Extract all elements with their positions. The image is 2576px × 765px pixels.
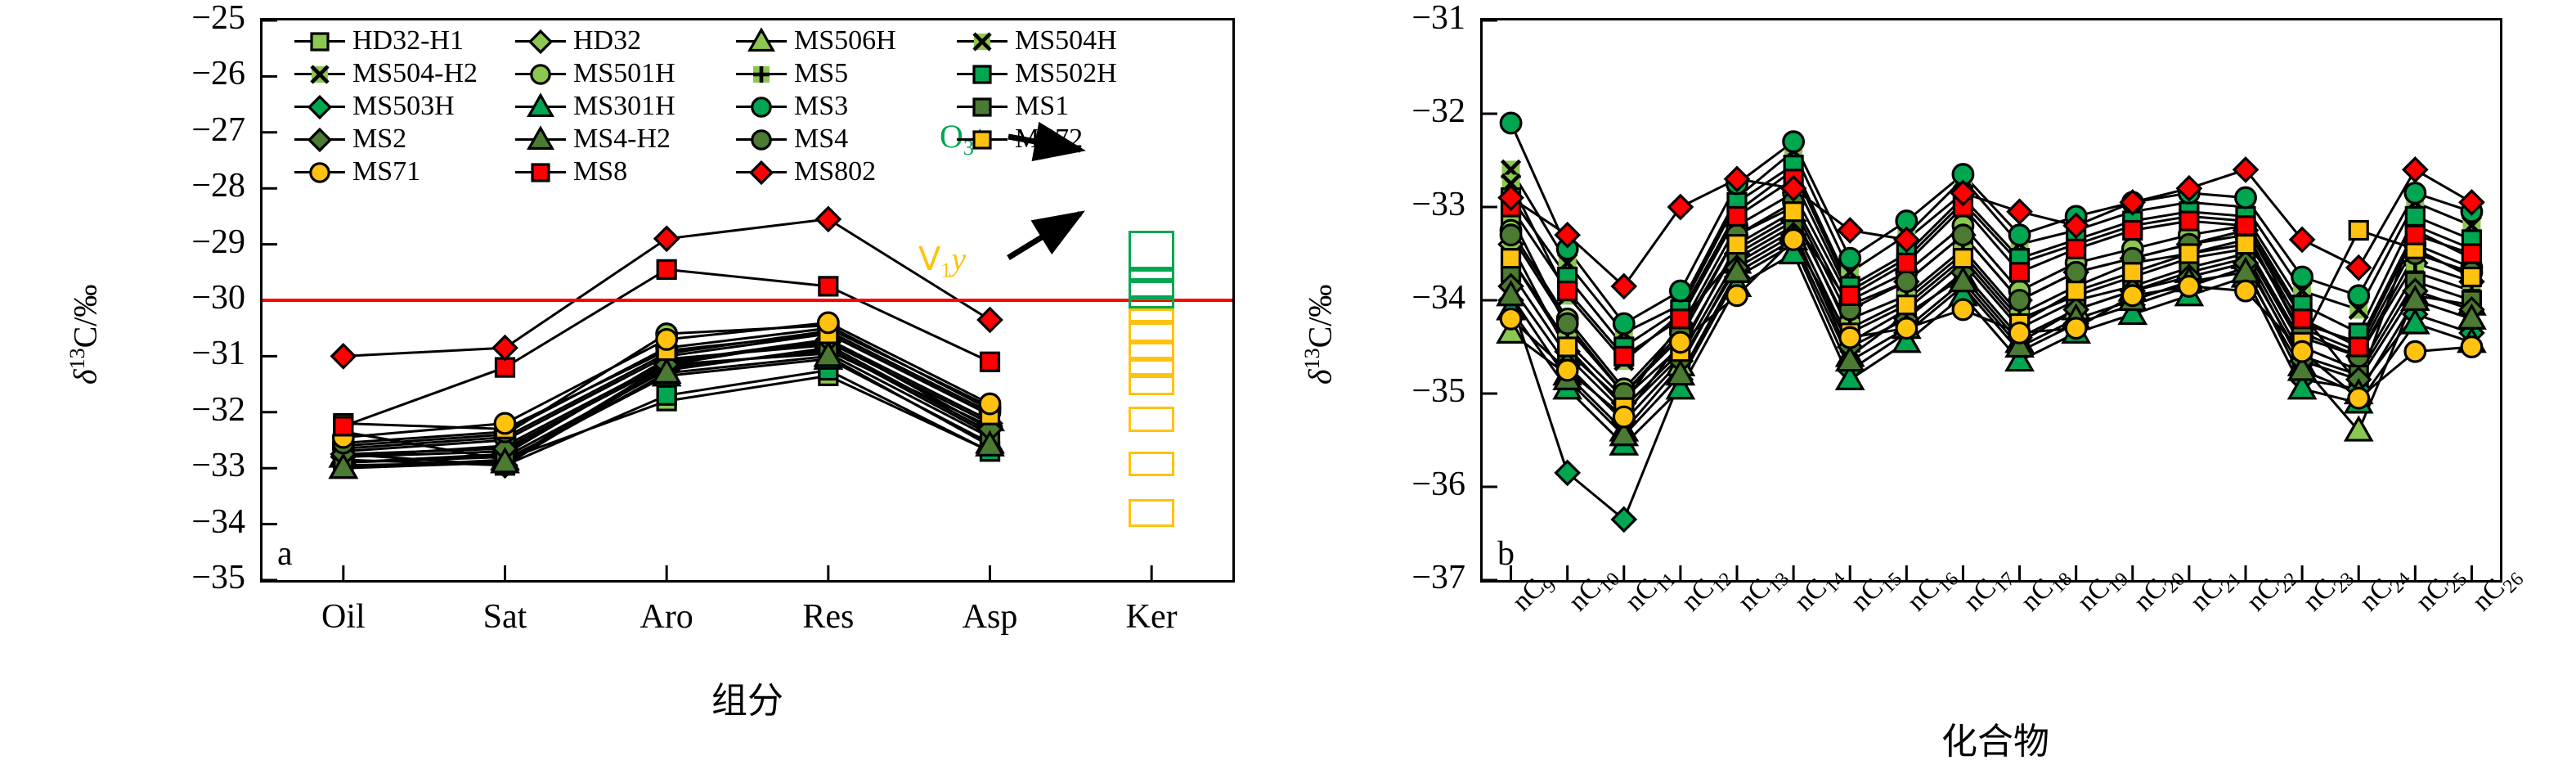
legend-marker-diamond-icon: [294, 106, 345, 108]
y-tick-label: −30: [139, 278, 245, 317]
legend-marker-circle-icon: [515, 73, 566, 75]
x-tick-label-aro: Aro: [640, 597, 693, 637]
kerogen-box: [1129, 359, 1174, 376]
legend-label: HD32-H1: [352, 25, 464, 56]
data-point: [2292, 267, 2313, 287]
panel-a-y-axis-label: δ13C/‰: [65, 285, 104, 385]
legend-label: MS503H: [352, 91, 455, 122]
data-point: [2236, 281, 2256, 301]
data-point: [1784, 132, 1804, 152]
legend-item-hd32-h1[interactable]: HD32-H1: [294, 25, 515, 57]
panel-b-y-ticks: −31−32−33−34−35−36−37: [1367, 18, 1465, 583]
data-point: [657, 386, 675, 404]
legend-label: MS1: [1015, 91, 1069, 122]
y-tick-label: −33: [139, 446, 245, 485]
data-point: [332, 344, 355, 367]
legend-item-ms4-h2[interactable]: MS4-H2: [515, 123, 736, 155]
data-point: [2011, 263, 2029, 281]
data-point: [2236, 187, 2256, 208]
data-point: [2009, 225, 2030, 245]
data-point: [2349, 222, 2367, 240]
data-point: [1501, 225, 1521, 245]
data-point: [1501, 113, 1521, 133]
legend-marker-circle-icon: [736, 106, 787, 108]
data-point: [2124, 263, 2142, 281]
legend-item-ms504-h2[interactable]: MS504-H2: [294, 57, 515, 90]
legend-marker-cross-icon: [957, 40, 1008, 43]
data-point: [819, 277, 837, 295]
data-point: [1896, 272, 1917, 292]
data-point: [2405, 341, 2426, 362]
legend-label: MS3: [794, 91, 848, 122]
legend-item-ms501h[interactable]: MS501H: [515, 57, 736, 90]
data-point: [817, 208, 840, 231]
y-tick-label: −28: [139, 166, 245, 205]
legend-item-ms802[interactable]: MS802: [736, 155, 957, 188]
data-point: [1557, 313, 1577, 334]
panel-b-x-axis-label: 化合物: [1941, 712, 2049, 764]
data-point: [978, 308, 1001, 331]
kerogen-box: [1129, 407, 1174, 432]
data-point: [2293, 310, 2311, 328]
data-point: [1840, 248, 1860, 268]
data-point: [2179, 277, 2200, 297]
data-point: [1613, 407, 1634, 427]
legend-marker-square-icon: [957, 73, 1008, 75]
data-point: [2462, 268, 2480, 286]
kerogen-box: [1129, 322, 1174, 342]
legend-label: MS802: [794, 156, 876, 187]
data-point: [1557, 360, 1577, 380]
legend-item-ms4[interactable]: MS4: [736, 123, 957, 155]
legend-item-hd32[interactable]: HD32: [515, 25, 736, 57]
legend-marker-plus-icon: [736, 73, 787, 75]
data-point: [2122, 286, 2143, 306]
x-tick-label-asp: Asp: [963, 597, 1018, 637]
data-point: [657, 260, 675, 278]
data-point: [2349, 338, 2367, 356]
y-tick-label: −29: [139, 223, 245, 262]
data-point: [1669, 196, 1692, 218]
x-tick-label-sat: Sat: [483, 597, 527, 637]
data-point: [1671, 332, 1691, 353]
legend-label: MS504-H2: [352, 58, 478, 89]
panel-b-letter: b: [1497, 534, 1515, 574]
data-point: [2237, 236, 2255, 254]
legend-marker-square-icon: [957, 138, 1008, 141]
legend-item-ms71[interactable]: MS71: [294, 155, 515, 188]
panel-b: δ13C/‰ −31−32−33−34−35−36−37 b nC9nC10nC…: [1276, 0, 2576, 765]
data-point: [1953, 225, 1973, 245]
data-point: [657, 330, 677, 350]
kerogen-box: [1129, 499, 1174, 527]
y-tick-label: −32: [139, 390, 245, 430]
data-point: [1501, 308, 1521, 329]
data-point: [1896, 318, 1917, 339]
data-point: [980, 394, 1000, 414]
legend-item-ms2[interactable]: MS2: [294, 123, 515, 155]
legend-marker-triangle-icon: [515, 106, 566, 108]
legend-label: MS506H: [794, 25, 896, 56]
kerogen-box: [1129, 342, 1174, 359]
legend-marker-diamond-icon: [294, 138, 345, 141]
data-point: [1502, 250, 1520, 268]
data-point: [1672, 310, 1690, 328]
y-tick-label: −37: [1359, 558, 1465, 597]
legend-item-ms503h[interactable]: MS503H: [294, 90, 515, 123]
kerogen-box: [1129, 452, 1174, 477]
legend-label: MS502H: [1015, 58, 1117, 89]
data-point: [2406, 226, 2424, 244]
x-tick-label-ker: Ker: [1126, 597, 1178, 637]
data-point: [1784, 230, 1804, 250]
legend-item-ms502h[interactable]: MS502H: [957, 57, 1178, 90]
x-tick-label-oil: Oil: [321, 597, 366, 637]
data-point: [2009, 323, 2030, 344]
data-point: [1838, 218, 1861, 241]
legend-marker-square-icon: [957, 106, 1008, 108]
kerogen-box: [1129, 281, 1174, 298]
legend-item-ms504h[interactable]: MS504H: [957, 25, 1178, 57]
legend-item-ms1[interactable]: MS1: [957, 90, 1178, 123]
annotation-c1y: Ⅴ1y: [918, 240, 966, 283]
data-point: [1840, 327, 1860, 348]
x-tick-label-res: Res: [802, 597, 854, 637]
data-point: [819, 313, 839, 333]
data-point: [1728, 236, 1746, 254]
legend-label: MS4-H2: [573, 124, 671, 155]
y-tick-label: −35: [1359, 371, 1465, 411]
y-tick-label: −35: [139, 558, 245, 597]
data-point: [2349, 286, 2369, 306]
legend-label: MS504H: [1015, 25, 1117, 56]
y-tick-label: −34: [1359, 278, 1465, 317]
panel-b-series-layer: [1483, 20, 2500, 580]
y-tick-label: −25: [139, 0, 245, 38]
panel-a-letter: a: [277, 534, 293, 574]
legend-item-ms5[interactable]: MS5: [736, 57, 957, 90]
legend-marker-triangle-icon: [515, 138, 566, 141]
data-point: [1615, 347, 1633, 365]
kerogen-box: [1129, 376, 1174, 395]
data-point: [2009, 290, 2030, 311]
panel-b-y-axis-label: δ13C/‰: [1300, 285, 1339, 385]
legend-marker-square-icon: [294, 40, 345, 43]
legend-marker-circle-icon: [736, 138, 787, 141]
data-point: [2066, 318, 2086, 339]
legend-marker-diamond-icon: [736, 171, 787, 173]
data-point: [2403, 158, 2426, 181]
data-point: [655, 227, 678, 250]
data-point: [2406, 207, 2424, 225]
data-point: [2124, 222, 2142, 240]
legend-label: MS2: [352, 124, 406, 155]
data-point: [1954, 250, 1972, 268]
y-tick-label: −33: [1359, 185, 1465, 224]
data-point: [2067, 240, 2085, 258]
data-point: [2008, 200, 2031, 223]
legend-marker-square-icon: [515, 171, 566, 173]
y-tick-label: −27: [139, 110, 245, 150]
legend-marker-cross-icon: [294, 73, 345, 75]
data-point: [2292, 341, 2313, 362]
data-point: [495, 413, 515, 434]
data-point: [2066, 262, 2086, 282]
data-point: [2237, 217, 2255, 235]
data-point: [1613, 313, 1634, 334]
legend-label: MS4: [794, 124, 848, 155]
reference-line-minus30: [263, 299, 1232, 302]
kerogen-box: [1129, 269, 1174, 281]
legend-label: MS8: [573, 156, 627, 187]
data-point: [2349, 388, 2369, 408]
data-point: [981, 353, 999, 371]
panel-a-y-ticks: −25−26−27−28−29−30−31−32−33−34−35: [147, 18, 245, 583]
legend-label: MS71: [352, 156, 420, 187]
y-tick-label: −36: [1359, 465, 1465, 504]
legend-marker-diamond-icon: [515, 40, 566, 43]
legend-item-ms301h[interactable]: MS301H: [515, 90, 736, 123]
kerogen-box: [1129, 298, 1174, 309]
legend-item-ms3[interactable]: MS3: [736, 90, 957, 123]
kerogen-box: [1129, 231, 1174, 270]
data-point: [1559, 282, 1577, 300]
y-tick-label: −31: [139, 334, 245, 373]
legend-label: MS72: [1015, 124, 1083, 155]
data-point: [1559, 338, 1577, 356]
y-tick-label: −31: [1359, 0, 1465, 38]
data-point: [2180, 212, 2198, 230]
legend-label: MS301H: [573, 91, 675, 122]
legend-marker-triangle-icon: [736, 40, 787, 43]
legend-label: MS5: [794, 58, 848, 89]
data-point: [1671, 281, 1691, 301]
data-point: [1841, 286, 1859, 304]
panel-a-legend: HD32-H1HD32MS506HMS504HMS504-H2MS501HMS5…: [294, 25, 1178, 188]
panel-a: δ13C/‰ −25−26−27−28−29−30−31−32−33−34−35…: [0, 0, 1276, 765]
legend-label: HD32: [573, 25, 641, 56]
y-tick-label: −32: [1359, 92, 1465, 131]
data-point: [2067, 282, 2085, 300]
data-point: [2462, 337, 2482, 358]
data-point: [1727, 286, 1748, 306]
y-tick-label: −26: [139, 54, 245, 93]
kerogen-box: [1129, 308, 1174, 322]
data-point: [1784, 203, 1802, 221]
legend-item-ms8[interactable]: MS8: [515, 155, 736, 188]
legend-item-ms72[interactable]: MS72: [957, 123, 1178, 155]
legend-item-ms506h[interactable]: MS506H: [736, 25, 957, 57]
data-point: [493, 336, 516, 359]
data-point: [2405, 183, 2426, 204]
data-point: [2180, 245, 2198, 263]
panel-a-x-axis-label: 组分: [711, 671, 783, 723]
data-point: [1897, 254, 1915, 272]
data-point: [1897, 296, 1915, 314]
data-point: [2462, 245, 2480, 263]
data-point: [334, 417, 352, 435]
panel-b-plot-area: b: [1480, 18, 2502, 583]
data-point: [2347, 256, 2370, 279]
y-tick-label: −34: [139, 502, 245, 542]
legend-label: MS501H: [573, 58, 675, 89]
legend-marker-circle-icon: [294, 171, 345, 173]
data-point: [1728, 207, 1746, 225]
data-point: [1953, 299, 1973, 320]
